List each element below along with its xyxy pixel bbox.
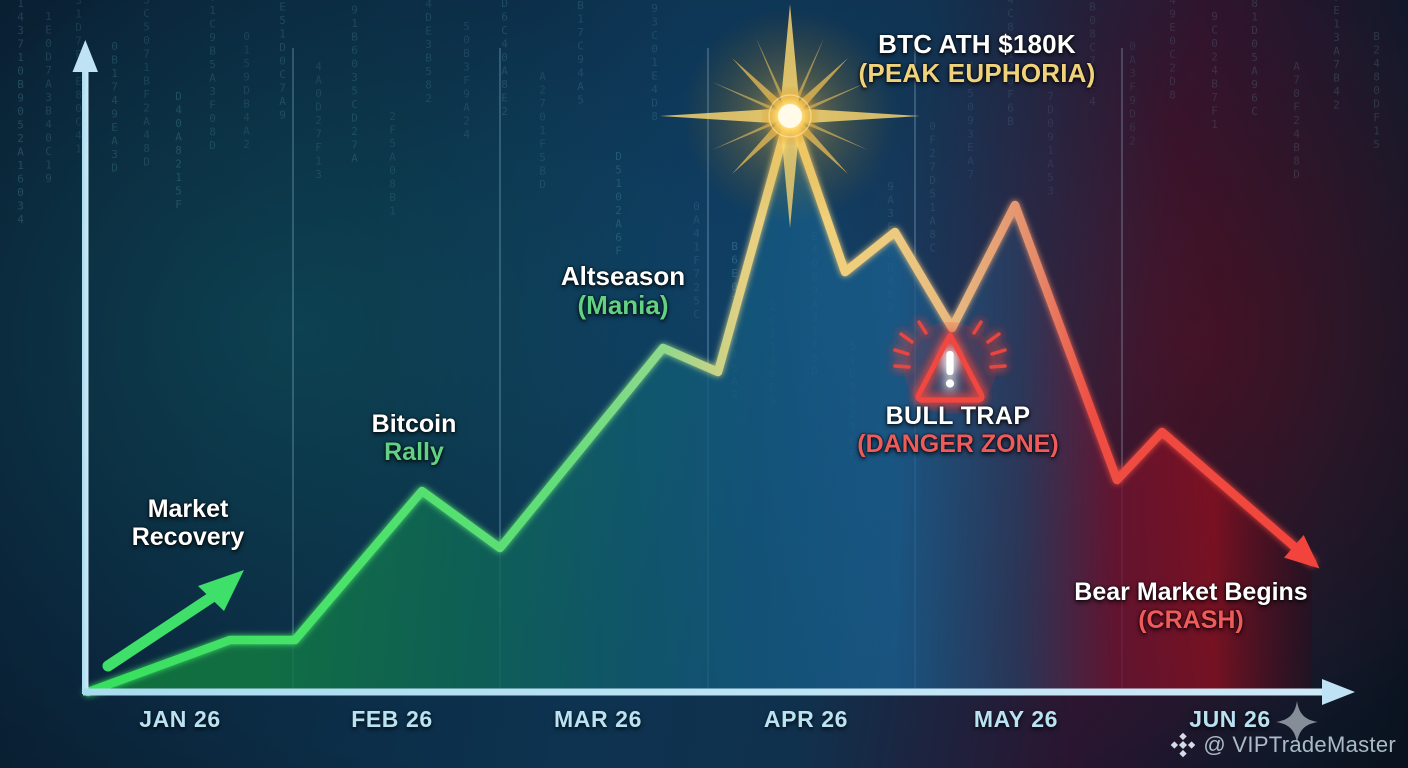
y-axis xyxy=(73,40,99,694)
x-axis-tick-label: MAY 26 xyxy=(946,706,1086,733)
x-axis-tick-label: JAN 26 xyxy=(110,706,250,733)
annotation-line-2: (Mania) xyxy=(520,291,726,320)
annotation-altseason: Altseason (Mania) xyxy=(520,262,726,320)
annotation-bear-market: Bear Market Begins (CRASH) xyxy=(1046,578,1336,634)
x-axis-tick-label: MAR 26 xyxy=(528,706,668,733)
x-axis-tick-label: FEB 26 xyxy=(322,706,462,733)
annotation-line-1: Bitcoin xyxy=(330,410,498,438)
annotation-line-1: Altseason xyxy=(520,262,726,291)
watermark: @ VIPTradeMaster xyxy=(1170,732,1396,758)
annotation-btc-ath: BTC ATH $180K (PEAK EUPHORIA) xyxy=(828,30,1126,88)
annotation-line-2: Recovery xyxy=(98,523,278,551)
annotation-bitcoin-rally: Bitcoin Rally xyxy=(330,410,498,466)
annotation-bull-trap: BULL TRAP (DANGER ZONE) xyxy=(848,402,1068,458)
watermark-handle: @ VIPTradeMaster xyxy=(1203,732,1396,758)
annotation-line-1: Market xyxy=(98,495,278,523)
annotation-market-recovery: Market Recovery xyxy=(98,495,278,551)
annotation-line-2: (PEAK EUPHORIA) xyxy=(828,59,1126,88)
annotation-line-2: (DANGER ZONE) xyxy=(848,430,1068,458)
x-axis-tick-label: APR 26 xyxy=(736,706,876,733)
binance-diamond-icon xyxy=(1170,732,1196,758)
annotation-line-2: Rally xyxy=(330,438,498,466)
annotation-line-1: Bear Market Begins xyxy=(1046,578,1336,606)
chart-canvas: 80143710B9052A160341E0D7A3B40C19A50931D7… xyxy=(0,0,1408,768)
annotation-line-2: (CRASH) xyxy=(1046,606,1336,634)
market-cycle-line-chart xyxy=(0,0,1408,768)
annotation-line-1: BTC ATH $180K xyxy=(828,30,1126,59)
annotation-line-1: BULL TRAP xyxy=(848,402,1068,430)
